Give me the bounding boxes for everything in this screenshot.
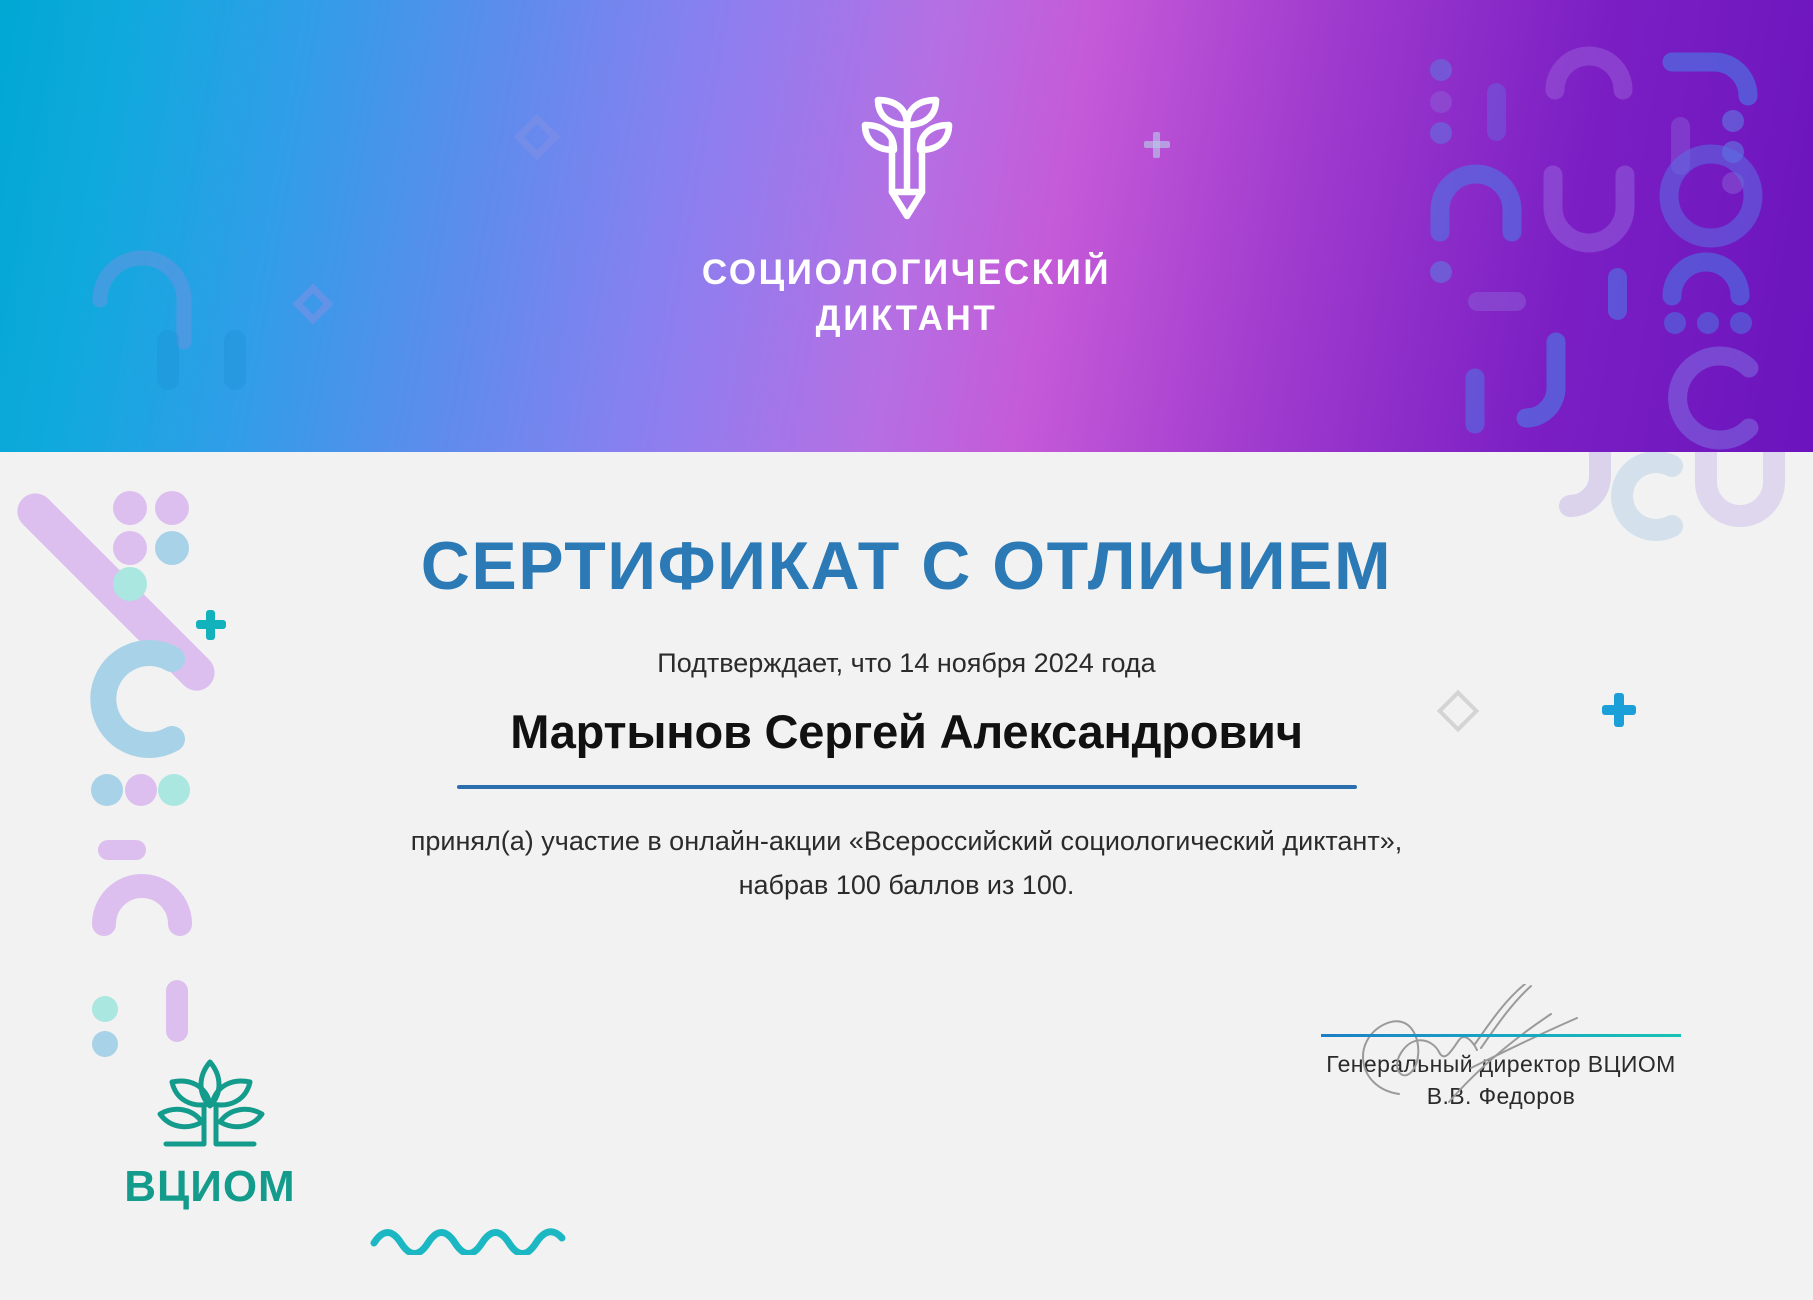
signatory-name: В.В. Федоров xyxy=(1301,1081,1701,1113)
page-title: СЕРТИФИКАТ С ОТЛИЧИЕМ xyxy=(0,527,1813,605)
body-text: принял(а) участие в онлайн-акции «Всерос… xyxy=(0,820,1813,907)
body-text-line1: принял(а) участие в онлайн-акции «Всерос… xyxy=(411,826,1402,856)
certificate-page: СОЦИОЛОГИЧЕСКИЙ ДИКТАНТ xyxy=(0,0,1813,1300)
vciom-logo: ВЦИОМ xyxy=(100,1052,320,1209)
name-underline xyxy=(457,785,1357,789)
header-title-line1: СОЦИОЛОГИЧЕСКИЙ xyxy=(702,253,1111,292)
confirmation-line: Подтверждает, что 14 ноября 2024 года xyxy=(0,648,1813,679)
signature-rule xyxy=(1321,1034,1681,1037)
certificate-header: СОЦИОЛОГИЧЕСКИЙ ДИКТАНТ xyxy=(0,0,1813,452)
header-title-line2: ДИКТАНТ xyxy=(702,296,1111,342)
vciom-wordmark: ВЦИОМ xyxy=(100,1165,320,1209)
signatory-caption: Генеральный директор ВЦИОМ В.В. Федоров xyxy=(1301,1049,1701,1112)
signature-block: Генеральный директор ВЦИОМ В.В. Федоров xyxy=(1301,1034,1701,1112)
signatory-title: Генеральный директор ВЦИОМ xyxy=(1326,1051,1675,1077)
pencil-plant-logo-icon xyxy=(848,88,966,228)
header-title: СОЦИОЛОГИЧЕСКИЙ ДИКТАНТ xyxy=(702,250,1111,342)
vciom-plant-logo-icon xyxy=(144,1143,276,1160)
certificate-body: СЕРТИФИКАТ С ОТЛИЧИЕМ Подтверждает, что … xyxy=(0,452,1813,1300)
recipient-name: Мартынов Сергей Александрович xyxy=(0,704,1813,759)
body-text-line2: набрав 100 баллов из 100. xyxy=(0,864,1813,908)
wave-divider-icon xyxy=(370,1225,566,1260)
